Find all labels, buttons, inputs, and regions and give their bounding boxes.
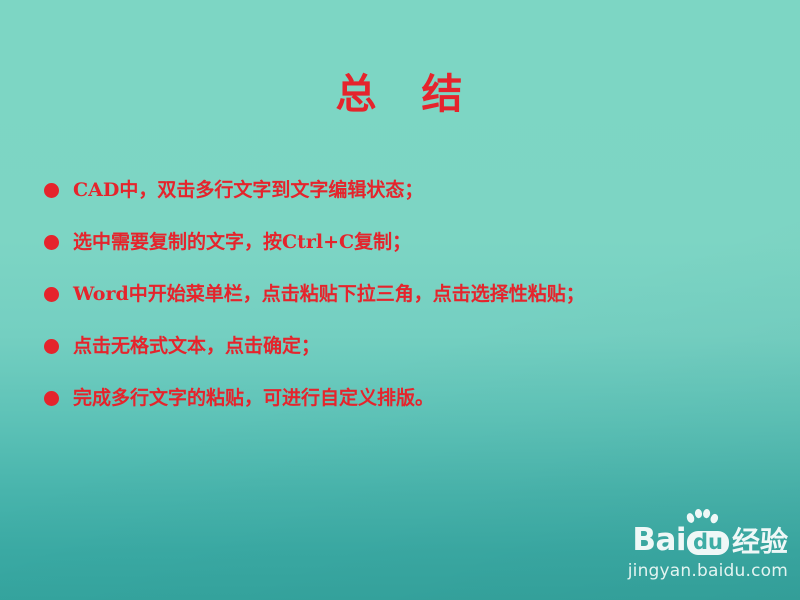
bullet-circle-icon bbox=[44, 339, 59, 354]
watermark-logo-row: Bai du 经验 bbox=[588, 520, 788, 556]
bullet-list: CAD中，双击多行文字到文字编辑状态； 选中需要复制的文字，按Ctrl+C复制；… bbox=[44, 164, 764, 424]
bullet-circle-icon bbox=[44, 391, 59, 406]
list-item: 完成多行文字的粘贴，可进行自定义排版。 bbox=[44, 372, 764, 424]
watermark-url: jingyan.baidu.com bbox=[588, 556, 788, 582]
slide-title-block: 总 结 bbox=[0, 70, 800, 118]
list-item-label: Word中开始菜单栏，点击粘贴下拉三角，点击选择性粘贴； bbox=[73, 282, 585, 306]
watermark-du-pill: du bbox=[687, 531, 729, 555]
paw-print-icon bbox=[685, 509, 719, 533]
presentation-slide: 总 结 CAD中，双击多行文字到文字编辑状态； 选中需要复制的文字，按Ctrl+… bbox=[0, 0, 800, 600]
baidu-jingyan-watermark: Bai du 经验 jingyan.baidu.com bbox=[588, 520, 788, 588]
watermark-brand-du: du bbox=[693, 530, 723, 554]
bullet-circle-icon bbox=[44, 287, 59, 302]
list-item-label: 选中需要复制的文字，按Ctrl+C复制； bbox=[73, 230, 411, 254]
watermark-brand-jingyan: 经验 bbox=[732, 528, 788, 556]
list-item-label: 点击无格式文本，点击确定； bbox=[73, 334, 320, 358]
list-item: 选中需要复制的文字，按Ctrl+C复制； bbox=[44, 216, 764, 268]
bullet-circle-icon bbox=[44, 183, 59, 198]
bullet-circle-icon bbox=[44, 235, 59, 250]
list-item: 点击无格式文本，点击确定； bbox=[44, 320, 764, 372]
slide-title: 总 结 bbox=[336, 70, 465, 118]
list-item-label: CAD中，双击多行文字到文字编辑状态； bbox=[73, 178, 423, 202]
list-item: CAD中，双击多行文字到文字编辑状态； bbox=[44, 164, 764, 216]
list-item: Word中开始菜单栏，点击粘贴下拉三角，点击选择性粘贴； bbox=[44, 268, 764, 320]
watermark-brand-bai: Bai bbox=[632, 525, 686, 556]
list-item-label: 完成多行文字的粘贴，可进行自定义排版。 bbox=[73, 386, 434, 410]
